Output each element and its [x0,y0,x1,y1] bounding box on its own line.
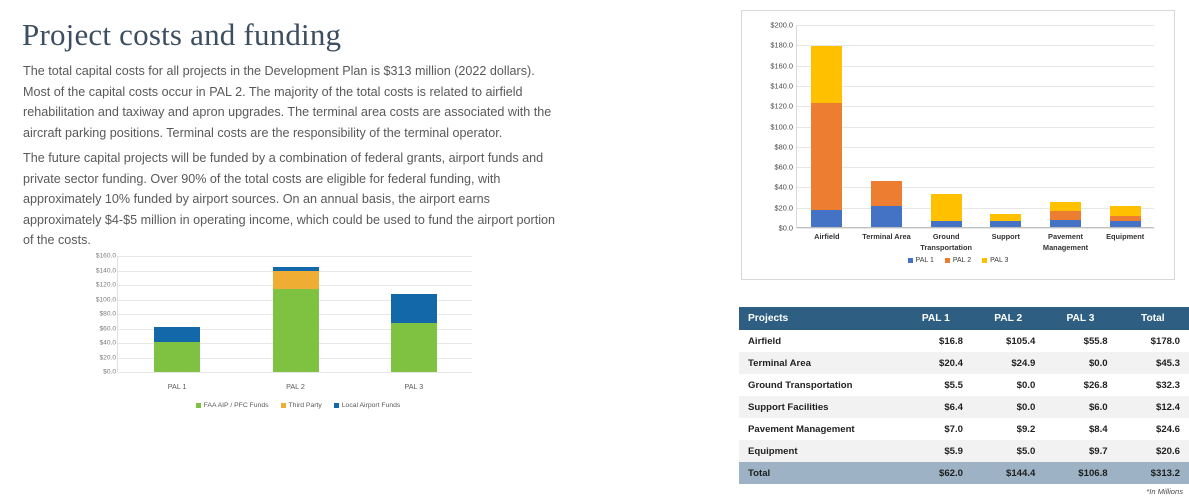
gridline [797,228,1154,229]
bar-segment [154,342,200,372]
legend-label: FAA AIP / PFC Funds [204,402,269,409]
bar-segment [811,210,842,227]
costs-chart-legend: PAL 1PAL 2PAL 3 [742,257,1174,264]
table-cell-value: $20.6 [1117,440,1189,462]
bar-segment [1110,221,1141,227]
bar-segment [871,206,902,227]
project-costs-table: ProjectsPAL 1PAL 2PAL 3Total Airfield$16… [739,307,1189,484]
legend-label: Third Party [289,402,322,409]
legend-item-pal-3: PAL 3 [982,257,1008,264]
table-column-header-projects[interactable]: Projects [739,307,900,330]
legend-item-local-airport-funds: Local Airport Funds [334,402,401,409]
y-axis-tick-label: $160.0 [743,61,793,70]
costs-chart-plot-area: $0.0$20.0$40.0$60.0$80.0$100.0$120.0$140… [796,25,1154,228]
table-cell-value: $8.4 [1044,418,1116,440]
table-cell-value: $0.0 [972,374,1044,396]
y-axis-tick-label: $60.0 [71,325,116,332]
table-column-header-pal-2[interactable]: PAL 2 [972,307,1044,330]
y-axis-tick-label: $200.0 [743,21,793,30]
legend-swatch-icon [281,403,286,408]
legend-item-pal-1: PAL 1 [908,257,934,264]
bar-segment [990,221,1021,227]
bar-stack [391,294,437,372]
y-axis-tick-label: $80.0 [743,142,793,151]
legend-label: PAL 3 [990,257,1008,264]
table-cell-value: $32.3 [1117,374,1189,396]
table-cell-value: $45.3 [1117,352,1189,374]
page-title: Project costs and funding [22,17,341,53]
y-axis-tick-label: $120.0 [743,102,793,111]
y-axis-tick-label: $0.0 [743,224,793,233]
costs-by-project-chart-panel: $0.0$20.0$40.0$60.0$80.0$100.0$120.0$140… [741,10,1175,280]
bar-stack [1050,202,1081,227]
gridline [797,86,1154,87]
table-row[interactable]: Airfield$16.8$105.4$55.8$178.0 [739,330,1189,352]
y-axis-tick-label: $20.0 [71,354,116,361]
gridline [118,256,472,257]
bar-segment [1050,220,1081,227]
table-cell-project-label: Support Facilities [739,396,900,418]
table-row[interactable]: Terminal Area$20.4$24.9$0.0$45.3 [739,352,1189,374]
bar-segment [1050,202,1081,211]
legend-swatch-icon [334,403,339,408]
x-axis-category-label: PAL 3 [379,382,449,391]
table-cell-value: $20.4 [900,352,972,374]
table-footnote: *In Millions [739,487,1189,496]
gridline [797,127,1154,128]
table-cell-project-label: Equipment [739,440,900,462]
gridline [797,45,1154,46]
table-column-header-pal-1[interactable]: PAL 1 [900,307,972,330]
table-row[interactable]: Ground Transportation$5.5$0.0$26.8$32.3 [739,374,1189,396]
table-cell-total-label: Total [739,462,900,484]
bar-segment [391,294,437,322]
bar-segment [811,46,842,103]
table-row[interactable]: Pavement Management$7.0$9.2$8.4$24.6 [739,418,1189,440]
x-axis-category-label: PAL 1 [142,382,212,391]
table-total-row: Total$62.0$144.4$106.8$313.2 [739,462,1189,484]
y-axis-tick-label: $180.0 [743,41,793,50]
gridline [797,106,1154,107]
legend-item-pal-2: PAL 2 [945,257,971,264]
y-axis-tick-label: $140.0 [71,267,116,274]
legend-swatch-icon [982,258,987,263]
table-cell-total-value: $62.0 [900,462,972,484]
table-cell-value: $6.4 [900,396,972,418]
table-cell-project-label: Pavement Management [739,418,900,440]
bar-stack [154,327,200,372]
gridline [797,208,1154,209]
y-axis-tick-label: $60.0 [743,163,793,172]
table-cell-project-label: Airfield [739,330,900,352]
table-cell-value: $9.7 [1044,440,1116,462]
funding-chart-legend: FAA AIP / PFC FundsThird PartyLocal Airp… [118,402,478,409]
table-cell-project-label: Ground Transportation [739,374,900,396]
legend-label: PAL 2 [953,257,971,264]
table-cell-value: $5.9 [900,440,972,462]
gridline [797,66,1154,67]
table-cell-total-value: $106.8 [1044,462,1116,484]
table-cell-total-value: $144.4 [972,462,1044,484]
table-cell-project-label: Terminal Area [739,352,900,374]
body-paragraph-2: The future capital projects will be fund… [23,148,557,251]
table-cell-value: $105.4 [972,330,1044,352]
table-cell-value: $6.0 [1044,396,1116,418]
bar-segment [1050,211,1081,220]
legend-swatch-icon [908,258,913,263]
project-costs-table-container: ProjectsPAL 1PAL 2PAL 3Total Airfield$16… [739,307,1189,496]
bar-segment [273,289,319,372]
table-header-row: ProjectsPAL 1PAL 2PAL 3Total [739,307,1189,330]
left-content-column: Project costs and funding The total capi… [0,0,700,501]
table-body: Airfield$16.8$105.4$55.8$178.0Terminal A… [739,330,1189,484]
table-cell-value: $7.0 [900,418,972,440]
table-header: ProjectsPAL 1PAL 2PAL 3Total [739,307,1189,330]
gridline [797,25,1154,26]
gridline [118,372,472,373]
gridline [797,147,1154,148]
y-axis-tick-label: $80.0 [71,311,116,318]
table-cell-total-value: $313.2 [1117,462,1189,484]
y-axis-tick-label: $40.0 [743,183,793,192]
bar-segment [931,194,962,221]
body-paragraph-1: The total capital costs for all projects… [23,61,557,143]
bar-stack [1110,206,1141,227]
bar-segment [273,271,319,289]
bar-segment [931,221,962,227]
table-column-header-pal-3[interactable]: PAL 3 [1044,307,1116,330]
bar-stack [990,214,1021,227]
table-cell-value: $26.8 [1044,374,1116,396]
y-axis-tick-label: $40.0 [71,340,116,347]
y-axis-tick-label: $140.0 [743,81,793,90]
y-axis-tick-label: $160.0 [71,253,116,260]
bar-segment [811,103,842,210]
legend-label: PAL 1 [916,257,934,264]
table-cell-value: $0.0 [972,396,1044,418]
bar-segment [154,327,200,342]
bar-stack [871,181,902,227]
legend-label: Local Airport Funds [342,402,401,409]
y-axis-tick-label: $0.0 [71,369,116,376]
gridline [797,167,1154,168]
x-axis-category-label: Equipment [1086,232,1164,243]
table-cell-value: $5.5 [900,374,972,396]
table-row[interactable]: Equipment$5.9$5.0$9.7$20.6 [739,440,1189,462]
funding-by-pal-chart: $0.0$20.0$40.0$60.0$80.0$100.0$120.0$140… [70,250,490,420]
legend-item-faa-aip-pfc-funds: FAA AIP / PFC Funds [196,402,269,409]
y-axis-tick-label: $120.0 [71,282,116,289]
table-cell-value: $24.9 [972,352,1044,374]
table-column-header-total[interactable]: Total [1117,307,1189,330]
legend-item-third-party: Third Party [281,402,322,409]
table-cell-value: $9.2 [972,418,1044,440]
bar-segment [391,323,437,372]
table-cell-value: $24.6 [1117,418,1189,440]
x-axis-category-label: PAL 2 [261,382,331,391]
page-root: Project costs and funding The total capi… [0,0,1189,501]
legend-swatch-icon [945,258,950,263]
table-cell-value: $178.0 [1117,330,1189,352]
table-cell-value: $12.4 [1117,396,1189,418]
bar-stack [811,46,842,227]
gridline [797,187,1154,188]
table-cell-value: $0.0 [1044,352,1116,374]
y-axis-tick-label: $100.0 [71,296,116,303]
bar-stack [273,267,319,372]
table-cell-value: $5.0 [972,440,1044,462]
table-cell-value: $16.8 [900,330,972,352]
legend-swatch-icon [196,403,201,408]
table-row[interactable]: Support Facilities$6.4$0.0$6.0$12.4 [739,396,1189,418]
y-axis-tick-label: $100.0 [743,122,793,131]
funding-chart-plot-area: $0.0$20.0$40.0$60.0$80.0$100.0$120.0$140… [117,256,472,372]
bar-stack [931,194,962,227]
table-cell-value: $55.8 [1044,330,1116,352]
y-axis-tick-label: $20.0 [743,203,793,212]
bar-segment [1110,206,1141,216]
bar-segment [871,181,902,206]
